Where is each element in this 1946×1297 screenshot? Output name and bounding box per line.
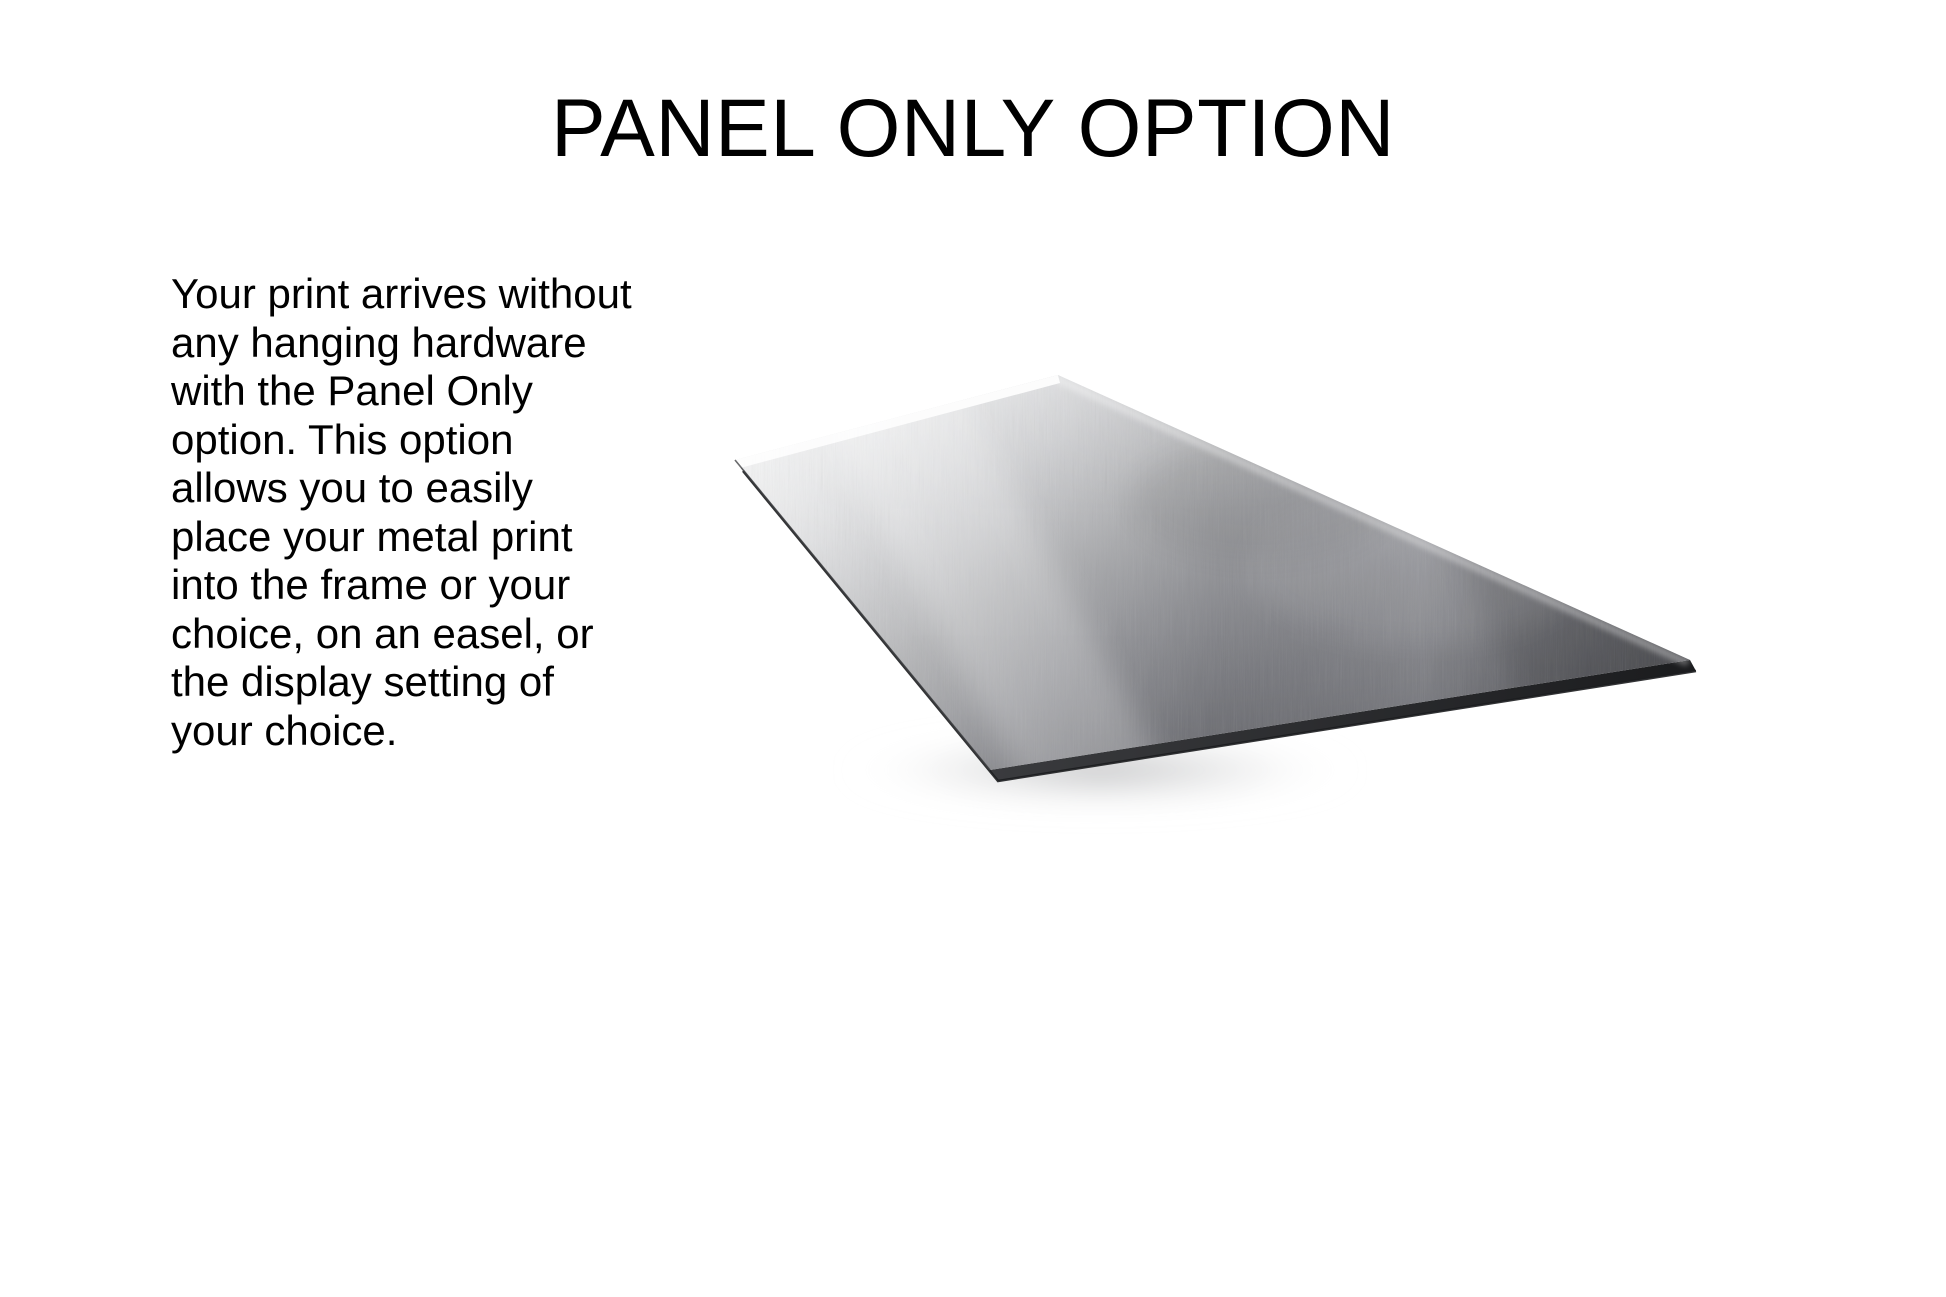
metal-panel-figure xyxy=(700,350,1730,810)
slide-canvas: PANEL ONLY OPTION Your print arrives wit… xyxy=(0,0,1946,1297)
body-paragraph: Your print arrives without any hanging h… xyxy=(171,270,641,755)
page-title: PANEL ONLY OPTION xyxy=(0,84,1946,174)
metal-panel-illustration xyxy=(700,350,1730,810)
